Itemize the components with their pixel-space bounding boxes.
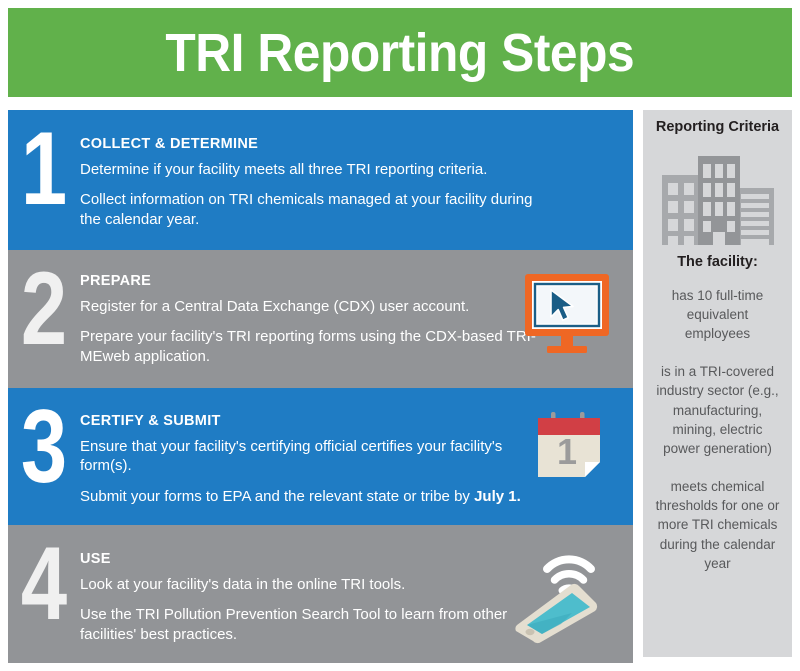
- step-3-line-1: Ensure that your facility's certifying o…: [80, 437, 550, 476]
- step-1-number: 1: [15, 110, 73, 219]
- step-1-body: COLLECT & DETERMINE Determine if your fa…: [80, 110, 633, 229]
- step-2-number: 2: [15, 250, 73, 359]
- step-1-line-1: Determine if your facility meets all thr…: [80, 160, 550, 180]
- sidebar-title: Reporting Criteria: [651, 119, 784, 136]
- step-2: 2 PREPARE Register for a Central Data Ex…: [8, 250, 633, 388]
- step-4-line-1: Look at your facility's data in the onli…: [80, 575, 550, 595]
- step-1-heading: COLLECT & DETERMINE: [80, 137, 625, 153]
- header-banner: TRI Reporting Steps: [8, 8, 792, 97]
- criterion-chemical-thresholds: meets chemical thresholds for one or mor…: [651, 477, 784, 573]
- page-title: TRI Reporting Steps: [166, 26, 635, 80]
- buildings-icon: [658, 144, 778, 248]
- step-4-line-2: Use the TRI Pollution Prevention Search …: [80, 605, 550, 644]
- criterion-industry-sector: is in a TRI-covered industry sector (e.g…: [651, 362, 784, 458]
- step-3-deadline: July 1.: [474, 488, 521, 505]
- step-4-body: USE Look at your facility's data in the …: [80, 525, 633, 644]
- step-2-body: PREPARE Register for a Central Data Exch…: [80, 250, 633, 366]
- steps-column: 1 COLLECT & DETERMINE Determine if your …: [8, 110, 633, 663]
- step-3-line-2-text: Submit your forms to EPA and the relevan…: [80, 488, 474, 505]
- step-3-body: CERTIFY & SUBMIT Ensure that your facili…: [80, 388, 633, 506]
- criterion-employees: has 10 full-time equivalent employees: [651, 286, 784, 343]
- step-3-line-2: Submit your forms to EPA and the relevan…: [80, 487, 550, 507]
- step-4: 4 USE Look at your facility's data in th…: [8, 525, 633, 663]
- step-3: 3 CERTIFY & SUBMIT Ensure that your faci…: [8, 388, 633, 525]
- tri-reporting-steps-infographic: TRI Reporting Steps 1 COLLECT & DETERMIN…: [0, 0, 800, 671]
- step-3-heading: CERTIFY & SUBMIT: [80, 414, 625, 430]
- step-2-heading: PREPARE: [80, 274, 625, 290]
- step-4-heading: USE: [80, 552, 625, 568]
- step-1-line-2: Collect information on TRI chemicals man…: [80, 190, 550, 229]
- step-1: 1 COLLECT & DETERMINE Determine if your …: [8, 110, 633, 250]
- reporting-criteria-sidebar: Reporting Criteria: [643, 110, 792, 657]
- step-4-number: 4: [15, 525, 73, 634]
- step-2-line-1: Register for a Central Data Exchange (CD…: [80, 297, 550, 317]
- step-2-line-2: Prepare your facility's TRI reporting fo…: [80, 327, 550, 366]
- step-3-number: 3: [15, 388, 73, 497]
- buildings-icon-wrap: [651, 142, 784, 248]
- facility-label: The facility:: [651, 254, 784, 271]
